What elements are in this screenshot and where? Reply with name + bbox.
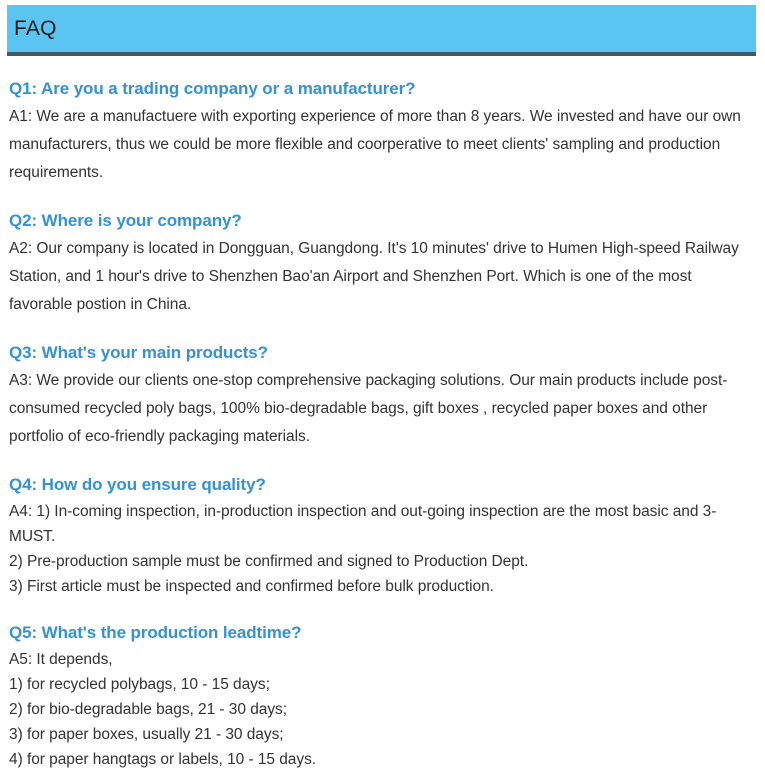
faq-answer-line: A4: 1) In-coming inspection, in-producti… bbox=[9, 499, 750, 549]
faq-answer-line: 3) First article must be inspected and c… bbox=[9, 574, 750, 599]
faq-question-4: Q4: How do you ensure quality? bbox=[9, 474, 750, 496]
faq-item-2: Q2: Where is your company? A2: Our compa… bbox=[9, 210, 750, 319]
faq-answer-line: 4) for paper hangtags or labels, 10 - 15… bbox=[9, 747, 750, 772]
faq-question-1: Q1: Are you a trading company or a manuf… bbox=[9, 78, 750, 100]
faq-item-5: Q5: What's the production leadtime? A5: … bbox=[9, 622, 750, 772]
faq-header-bar: FAQ bbox=[7, 5, 756, 56]
faq-content: Q1: Are you a trading company or a manuf… bbox=[0, 78, 765, 772]
faq-question-5: Q5: What's the production leadtime? bbox=[9, 622, 750, 644]
faq-answer-4: A4: 1) In-coming inspection, in-producti… bbox=[9, 499, 750, 599]
faq-item-3: Q3: What's your main products? A3: We pr… bbox=[9, 342, 750, 451]
faq-answer-5: A5: It depends, 1) for recycled polybags… bbox=[9, 647, 750, 772]
faq-page: FAQ Q1: Are you a trading company or a m… bbox=[0, 5, 765, 753]
faq-answer-line: 2) Pre-production sample must be confirm… bbox=[9, 549, 750, 574]
faq-answer-line: 2) for bio-degradable bags, 21 - 30 days… bbox=[9, 697, 750, 722]
page-title: FAQ bbox=[7, 18, 57, 39]
faq-question-2: Q2: Where is your company? bbox=[9, 210, 750, 232]
faq-question-3: Q3: What's your main products? bbox=[9, 342, 750, 364]
faq-answer-line: 1) for recycled polybags, 10 - 15 days; bbox=[9, 672, 750, 697]
faq-answer-1: A1: We are a manufactuere with exporting… bbox=[9, 103, 750, 187]
faq-answer-3: A3: We provide our clients one-stop comp… bbox=[9, 367, 750, 451]
faq-item-1: Q1: Are you a trading company or a manuf… bbox=[9, 78, 750, 187]
faq-answer-line: A5: It depends, bbox=[9, 647, 750, 672]
faq-answer-2: A2: Our company is located in Dongguan, … bbox=[9, 235, 750, 319]
faq-answer-line: 3) for paper boxes, usually 21 - 30 days… bbox=[9, 722, 750, 747]
faq-item-4: Q4: How do you ensure quality? A4: 1) In… bbox=[9, 474, 750, 599]
